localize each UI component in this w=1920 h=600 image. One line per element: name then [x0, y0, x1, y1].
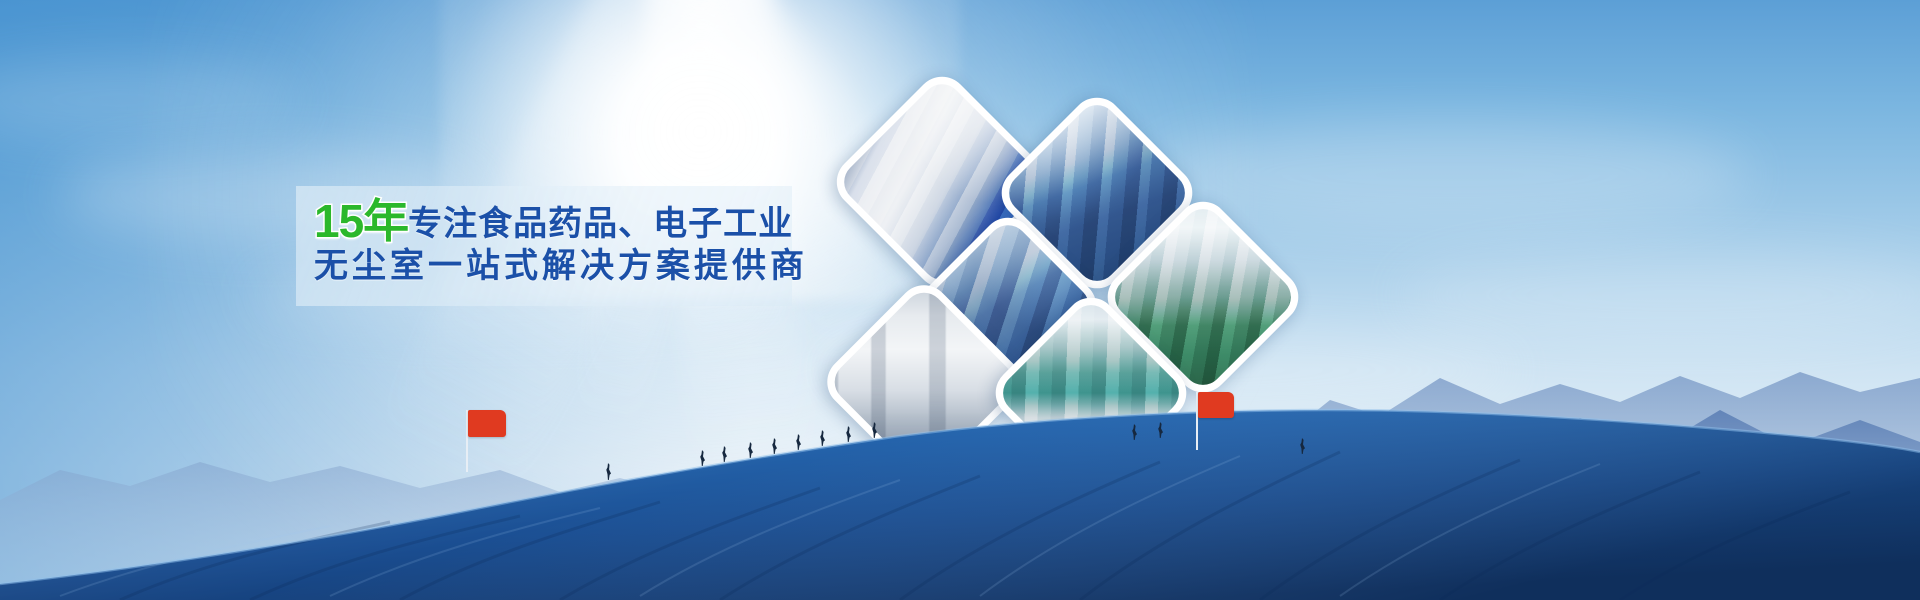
- flag-right: [1196, 392, 1234, 450]
- hero-banner: 15年专注食品药品、电子工业 无尘室一站式解决方案提供商: [0, 0, 1920, 600]
- flag-left-cloth: [468, 410, 506, 437]
- flag-right-cloth: [1198, 392, 1234, 418]
- foreground-ridge: [0, 370, 1920, 600]
- flag-left: [466, 410, 506, 472]
